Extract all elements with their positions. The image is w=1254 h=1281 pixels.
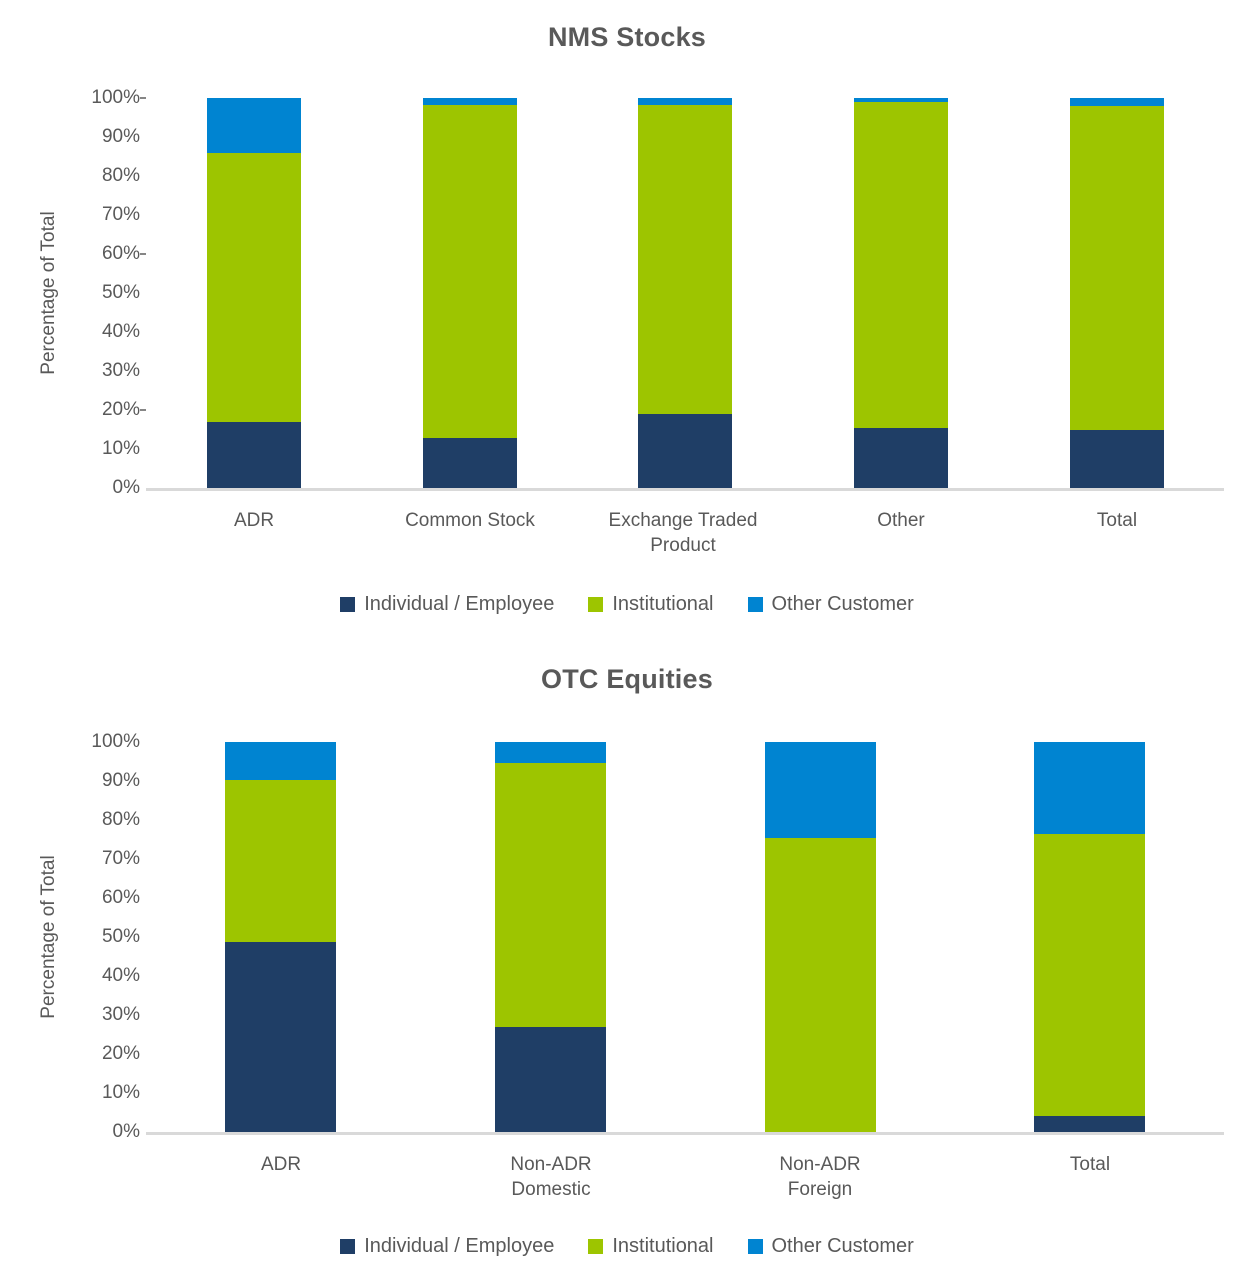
segment-individual-employee xyxy=(1070,430,1164,488)
y-tick-label: 50% xyxy=(62,926,140,948)
x-axis-label-total: Total xyxy=(1009,508,1225,533)
segment-institutional xyxy=(765,838,876,1132)
segment-institutional xyxy=(207,153,301,422)
legend-label: Institutional xyxy=(612,1235,713,1258)
chart-otc-equities: OTC Equities Percentage of Total 100% 90… xyxy=(0,644,1254,1281)
segment-individual-employee xyxy=(225,942,336,1132)
segment-institutional xyxy=(225,780,336,942)
legend-swatch-blue-icon xyxy=(748,597,763,612)
y-tick-label: 100% xyxy=(62,731,140,753)
segment-institutional xyxy=(423,105,517,438)
segment-other-customer xyxy=(638,98,732,105)
y-tick-label: 0% xyxy=(62,1121,140,1143)
bar-non-adr-foreign[interactable] xyxy=(765,742,876,1132)
y-tick-label: 40% xyxy=(62,965,140,987)
y-tick-label: 10% xyxy=(62,438,140,460)
segment-individual-employee xyxy=(207,422,301,488)
y-tick-label: 20% xyxy=(62,1043,140,1065)
y-tick-label: 40% xyxy=(62,321,140,343)
segment-institutional xyxy=(638,105,732,414)
chart-nms-stocks: NMS Stocks Percentage of Total 100% 90% … xyxy=(0,0,1254,640)
y-axis-labels-nms: 100% 90% 80% 70% 60% 50% 40% 30% 20% 10%… xyxy=(62,0,140,560)
bar-non-adr-domestic[interactable] xyxy=(495,742,606,1132)
legend-label: Individual / Employee xyxy=(364,593,554,616)
segment-individual-employee xyxy=(638,414,732,488)
segment-institutional xyxy=(1070,106,1164,430)
y-axis-title-nms: Percentage of Total xyxy=(38,98,60,488)
y-tick-label: 20% xyxy=(62,399,140,421)
segment-institutional xyxy=(854,102,948,428)
y-tick-label: 70% xyxy=(62,848,140,870)
y-tick-label: 90% xyxy=(62,770,140,792)
segment-individual-employee xyxy=(423,438,517,488)
legend-label: Institutional xyxy=(612,593,713,616)
y-tick-label: 50% xyxy=(62,282,140,304)
y-tick-label: 10% xyxy=(62,1082,140,1104)
legend-item-other-customer[interactable]: Other Customer xyxy=(748,1235,914,1258)
x-axis-baseline xyxy=(146,488,1224,491)
legend-item-other-customer[interactable]: Other Customer xyxy=(748,593,914,616)
legend-swatch-blue-icon xyxy=(748,1239,763,1254)
segment-other-customer xyxy=(207,98,301,153)
chart-page: NMS Stocks Percentage of Total 100% 90% … xyxy=(0,0,1254,1281)
y-tick-label: 60% xyxy=(62,243,140,265)
y-tick-label: 30% xyxy=(62,360,140,382)
bar-adr[interactable] xyxy=(225,742,336,1132)
segment-institutional xyxy=(1034,834,1145,1117)
y-tick-label: 70% xyxy=(62,204,140,226)
bar-common-stock[interactable] xyxy=(423,98,517,488)
bar-other[interactable] xyxy=(854,98,948,488)
y-tick-label: 80% xyxy=(62,165,140,187)
segment-individual-employee xyxy=(1034,1116,1145,1132)
x-axis-label-other: Other xyxy=(793,508,1009,533)
legend-label: Other Customer xyxy=(772,593,914,616)
segment-institutional xyxy=(495,763,606,1026)
y-tick-label: 60% xyxy=(62,887,140,909)
y-axis-labels-otc: 100% 90% 80% 70% 60% 50% 40% 30% 20% 10%… xyxy=(62,644,140,1204)
y-tick-label: 30% xyxy=(62,1004,140,1026)
segment-individual-employee xyxy=(495,1027,606,1132)
bar-total[interactable] xyxy=(1034,742,1145,1132)
segment-other-customer xyxy=(1070,98,1164,106)
segment-other-customer xyxy=(1034,742,1145,834)
y-axis-title-otc: Percentage of Total xyxy=(38,742,60,1132)
legend-swatch-navy-icon xyxy=(340,597,355,612)
legend-swatch-green-icon xyxy=(588,597,603,612)
y-tick-label: 90% xyxy=(62,126,140,148)
legend-swatch-navy-icon xyxy=(340,1239,355,1254)
legend-otc: Individual / Employee Institutional Othe… xyxy=(0,1235,1254,1258)
bars-layer-nms xyxy=(146,98,1224,488)
legend-item-individual-employee[interactable]: Individual / Employee xyxy=(340,1235,554,1258)
legend-item-institutional[interactable]: Institutional xyxy=(588,1235,713,1258)
segment-other-customer xyxy=(495,742,606,763)
bar-adr[interactable] xyxy=(207,98,301,488)
plot-area-nms: Percentage of Total 100% 90% 80% 70% 60%… xyxy=(0,0,1254,560)
legend-label: Other Customer xyxy=(772,1235,914,1258)
x-axis-baseline xyxy=(146,1132,1224,1135)
x-axis-label-adr: ADR xyxy=(146,508,362,533)
segment-other-customer xyxy=(765,742,876,838)
x-axis-label-line1: Non-ADR Foreign xyxy=(685,1152,955,1203)
plot-area-otc: Percentage of Total 100% 90% 80% 70% 60%… xyxy=(0,644,1254,1204)
y-tick-label: 80% xyxy=(62,809,140,831)
x-axis-label-adr: ADR xyxy=(146,1152,416,1177)
legend-label: Individual / Employee xyxy=(364,1235,554,1258)
x-axis-label-exchange-traded-product: Exchange Traded Product xyxy=(586,508,780,559)
segment-other-customer xyxy=(225,742,336,780)
x-axis-label-non-adr-foreign: Non-ADR Foreign xyxy=(685,1152,955,1203)
y-tick-label: 100% xyxy=(62,87,140,109)
y-tick-label: 0% xyxy=(62,477,140,499)
segment-other-customer xyxy=(423,98,517,105)
bar-total[interactable] xyxy=(1070,98,1164,488)
legend-swatch-green-icon xyxy=(588,1239,603,1254)
bar-exchange-traded-product[interactable] xyxy=(638,98,732,488)
x-axis-label-non-adr-domestic: Non-ADR Domestic xyxy=(416,1152,686,1203)
legend-item-institutional[interactable]: Institutional xyxy=(588,593,713,616)
legend-nms: Individual / Employee Institutional Othe… xyxy=(0,593,1254,616)
x-axis-label-line1: Non-ADR Domestic xyxy=(416,1152,686,1203)
segment-individual-employee xyxy=(854,428,948,488)
x-axis-label-total: Total xyxy=(955,1152,1225,1177)
bars-layer-otc xyxy=(146,742,1224,1132)
x-axis-label-common-stock: Common Stock xyxy=(362,508,578,533)
legend-item-individual-employee[interactable]: Individual / Employee xyxy=(340,593,554,616)
